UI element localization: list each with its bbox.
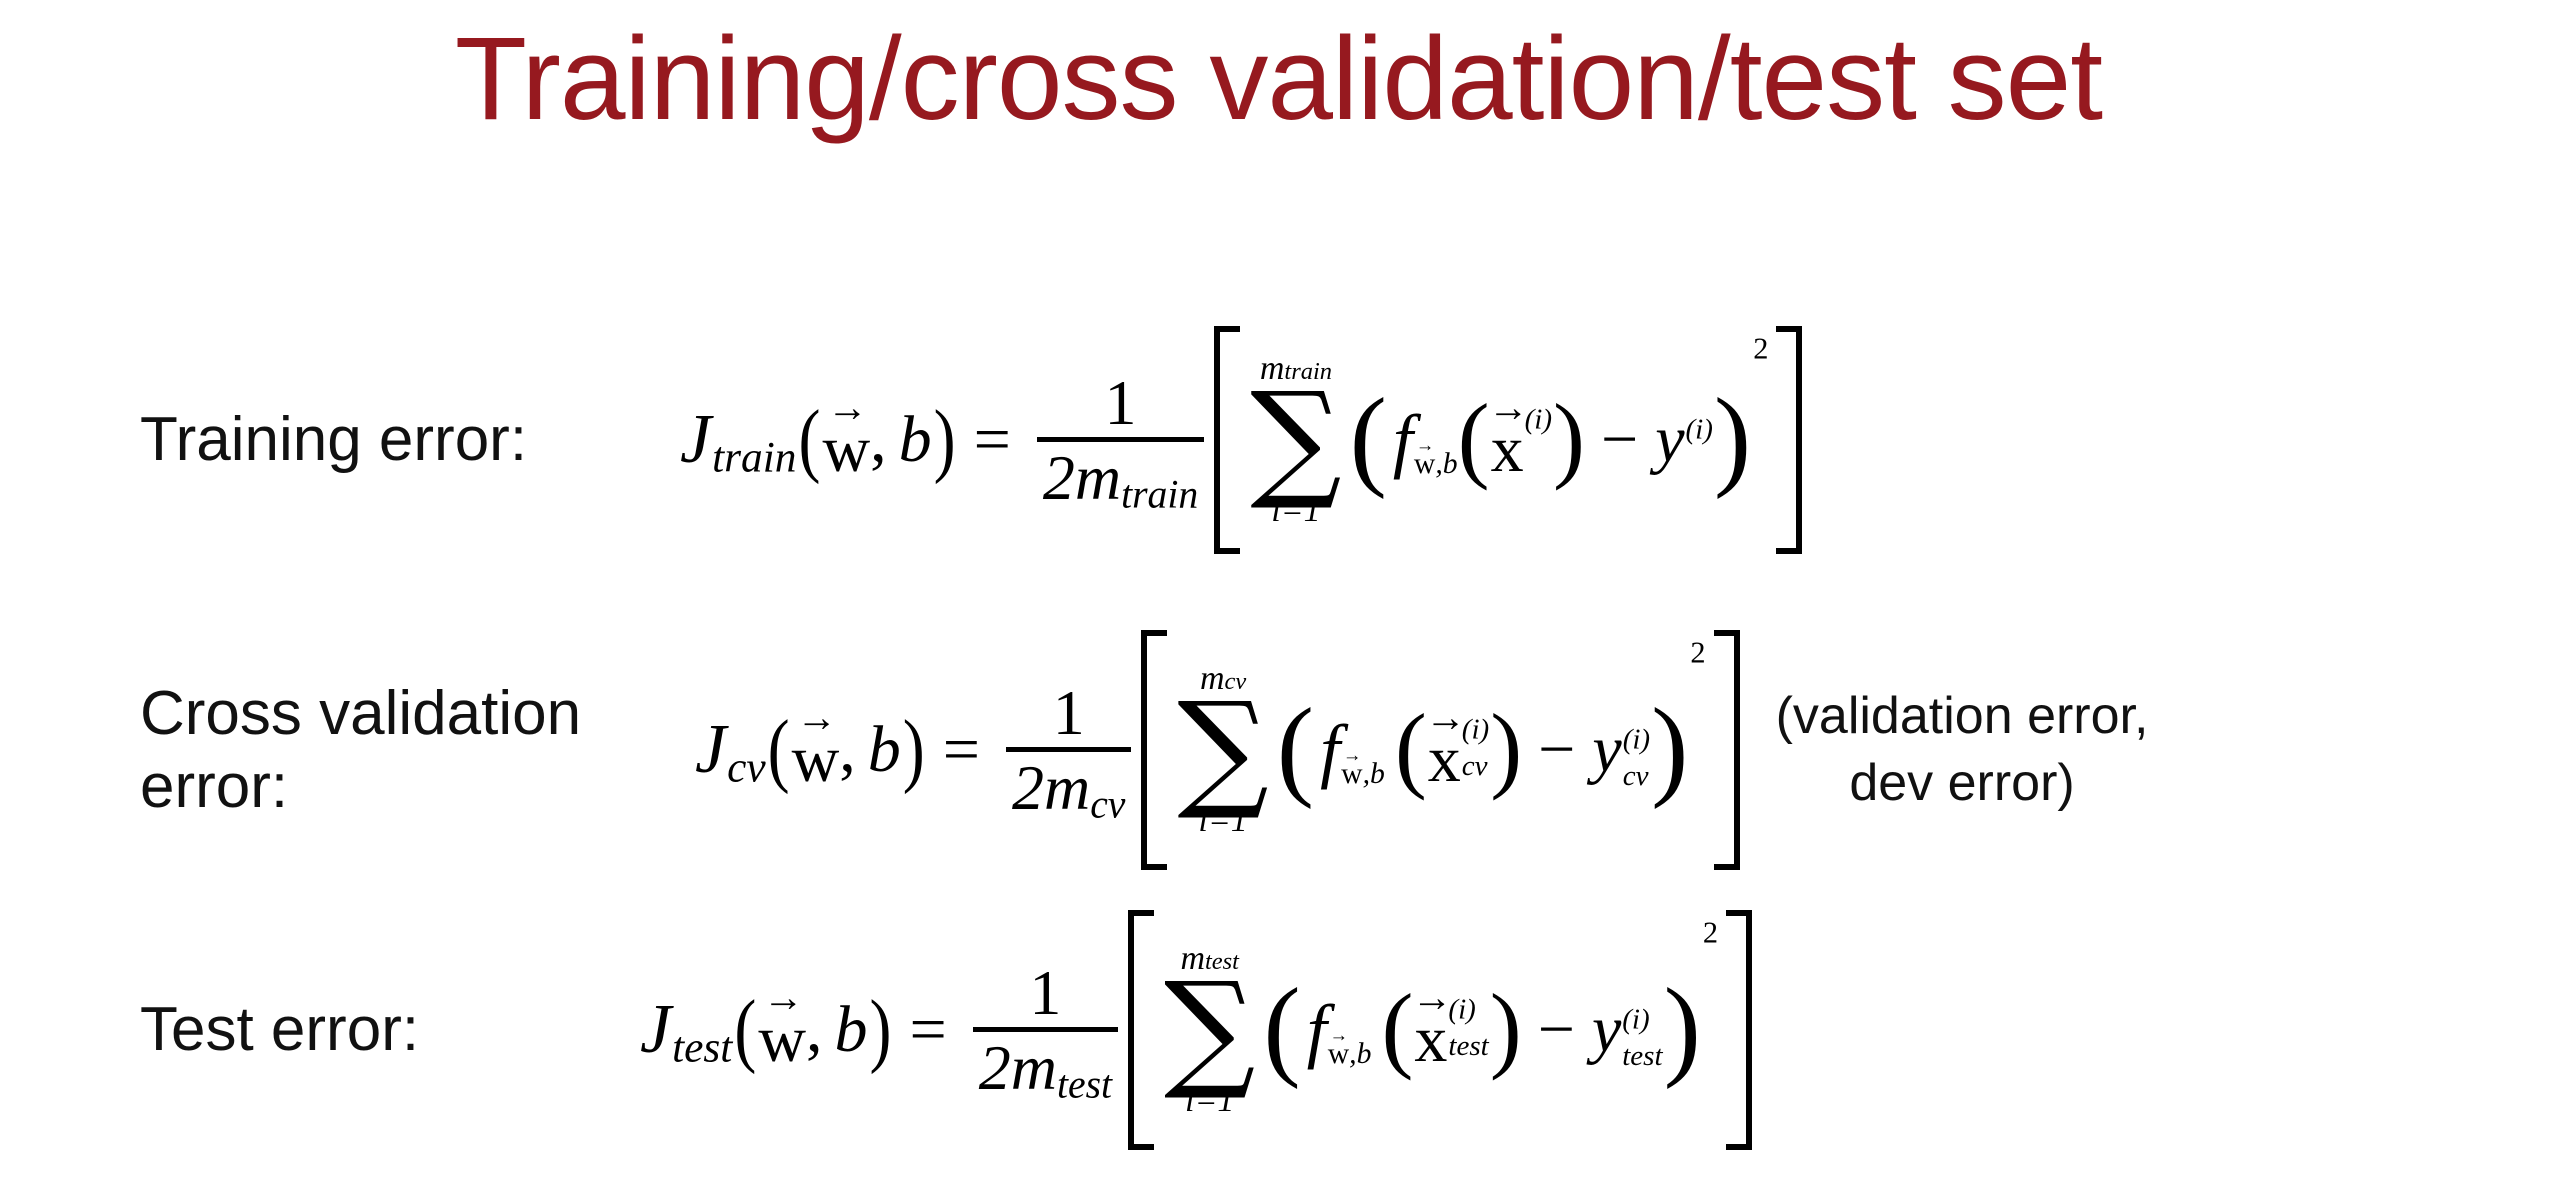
fraction-numerator: 1	[1019, 961, 1071, 1027]
close-paren: )	[870, 989, 892, 1072]
f-glyph: f	[1393, 404, 1413, 476]
x-scripts: (i) test	[1448, 987, 1488, 1045]
summand-expression: ( f → w ,b ( → x	[1277, 630, 1706, 870]
y-scripts: (i) test	[1622, 997, 1662, 1055]
f-subscript: → w ,b	[1341, 751, 1385, 790]
fraction-numerator: 1	[1095, 371, 1147, 437]
f-glyph: f	[1307, 994, 1327, 1066]
square-exponent: 2	[1753, 334, 1768, 364]
open-bracket-glyph	[1128, 910, 1154, 1150]
x-subscript: test	[1448, 1032, 1488, 1061]
test-error-formula: Jtest ( → w , b ) = 1 2mtest mtest ∑ i=1	[640, 910, 1752, 1150]
cross-validation-error-row: Cross validation error: Jcv ( → w , b ) …	[140, 630, 2148, 870]
sigma-icon: ∑	[1164, 978, 1255, 1083]
close-bracket-glyph	[1776, 326, 1802, 554]
training-error-formula: Jtrain ( → w , b ) = 1 2mtrain mtrain ∑	[680, 326, 1802, 554]
x-scripts: (i)	[1525, 397, 1552, 426]
j-subscript: cv	[727, 747, 766, 790]
close-paren: )	[903, 709, 925, 792]
x-subscript: cv	[1462, 752, 1488, 781]
summation-bracket: mtrain ∑ i=1 ( f → w ,b (	[1214, 326, 1802, 554]
summand-open-paren: (	[1350, 398, 1387, 479]
model-function-f: f → w ,b	[1393, 404, 1458, 476]
cross-validation-error-formula: Jcv ( → w , b ) = 1 2mcv mcv ∑ i=1	[695, 630, 1740, 870]
page-title: Training/cross validation/test set	[0, 18, 2557, 142]
b-arg: b	[835, 997, 868, 1063]
open-bracket-glyph	[1141, 630, 1167, 870]
close-paren: )	[934, 399, 956, 482]
cross-validation-alias-note: (validation error, dev error)	[1776, 683, 2149, 816]
summand-expression: ( f → w ,b ( → x	[1350, 326, 1769, 554]
model-function-f: f → w ,b	[1307, 994, 1372, 1066]
y-scripts: (i)	[1686, 407, 1713, 436]
f-arg-close-paren: )	[1490, 713, 1522, 782]
sum-lower-limit: i=1	[1271, 494, 1320, 528]
f-sub-rest: ,b	[1435, 450, 1457, 480]
f-subscript-w-vector: → w	[1414, 441, 1435, 480]
fraction-denominator: 2mtrain	[1037, 442, 1204, 510]
test-error-label: Test error:	[140, 993, 640, 1066]
summation-operator: mtest ∑ i=1	[1164, 910, 1255, 1150]
w-vector-arg: → w	[822, 397, 870, 483]
summand-close-paren: )	[1714, 398, 1751, 479]
open-paren: (	[768, 709, 790, 792]
y-glyph: y	[1592, 717, 1621, 783]
summation-operator: mtrain ∑ i=1	[1250, 326, 1341, 554]
arg-comma: ,	[839, 717, 856, 783]
minus-sign: −	[1538, 997, 1575, 1063]
fraction-denominator: 2mtest	[973, 1032, 1118, 1100]
x-vector: → x	[1491, 397, 1524, 483]
summand-open-paren: (	[1263, 988, 1300, 1069]
vector-arrow-icon: →	[796, 708, 834, 728]
f-subscript: → w ,b	[1328, 1031, 1372, 1070]
vector-arrow-icon: →	[1412, 988, 1450, 1008]
y-subscript: test	[1622, 1042, 1662, 1071]
w-vector-arg: → w	[792, 707, 840, 793]
denominator-subscript: test	[1057, 1065, 1112, 1105]
arg-comma: ,	[870, 407, 887, 473]
fraction-one-over-2m-cv: 1 2mcv	[1006, 681, 1131, 820]
y-glyph: y	[1592, 997, 1621, 1063]
model-function-f: f → w ,b	[1320, 714, 1385, 786]
close-bracket-glyph	[1726, 910, 1752, 1150]
vector-arrow-icon: →	[1425, 708, 1463, 728]
summation-operator: mcv ∑ i=1	[1177, 630, 1268, 870]
vector-arrow-icon: →	[1343, 751, 1360, 760]
sum-lower-limit: i=1	[1185, 1084, 1234, 1118]
f-arg-close-paren: )	[1490, 993, 1522, 1062]
vector-arrow-icon: →	[1488, 398, 1526, 418]
j-subscript: test	[672, 1027, 732, 1070]
b-arg: b	[899, 407, 932, 473]
minus-sign: −	[1538, 717, 1575, 783]
vector-arrow-icon: →	[1330, 1031, 1347, 1040]
x-superscript: (i)	[1525, 406, 1552, 435]
training-error-label: Training error:	[140, 403, 680, 476]
vector-arrow-icon: →	[1416, 441, 1433, 450]
sigma-icon: ∑	[1250, 388, 1341, 493]
x-input-variable: → x (i) cv	[1428, 707, 1489, 793]
x-input-variable: → x (i)	[1491, 397, 1552, 483]
y-target-variable: y (i) cv	[1592, 717, 1650, 783]
summand-expression: ( f → w ,b ( → x	[1263, 910, 1718, 1150]
f-arg-close-paren: )	[1553, 403, 1585, 472]
open-bracket-glyph	[1214, 326, 1240, 554]
b-arg: b	[868, 717, 901, 783]
denominator-prefix: 2m	[1043, 446, 1121, 510]
summand-close-paren: )	[1651, 708, 1688, 789]
equals-sign: =	[909, 997, 946, 1063]
denominator-subscript: train	[1121, 475, 1198, 515]
y-superscript: (i)	[1686, 416, 1713, 445]
equals-sign: =	[974, 407, 1011, 473]
square-exponent: 2	[1690, 638, 1705, 668]
function-name-j-cv: Jcv	[695, 715, 766, 785]
j-glyph: J	[680, 405, 711, 475]
f-glyph: f	[1320, 714, 1340, 786]
fraction-one-over-2m-train: 1 2mtrain	[1037, 371, 1204, 510]
summand-open-paren: (	[1277, 708, 1314, 789]
f-subscript-w-vector: → w	[1328, 1031, 1349, 1070]
vector-arrow-icon: →	[827, 398, 865, 418]
summand-close-paren: )	[1664, 988, 1701, 1069]
open-paren: (	[734, 989, 756, 1072]
close-bracket-glyph	[1714, 630, 1740, 870]
f-sub-rest: ,b	[1363, 760, 1385, 790]
x-input-variable: → x (i) test	[1414, 987, 1488, 1073]
vector-arrow-icon: →	[763, 988, 801, 1008]
fraction-denominator: 2mcv	[1006, 752, 1131, 820]
summation-bracket: mtest ∑ i=1 ( f → w ,b (	[1128, 910, 1752, 1150]
denominator-prefix: 2m	[979, 1036, 1057, 1100]
y-glyph: y	[1655, 407, 1684, 473]
sum-lower-limit: i=1	[1198, 804, 1247, 838]
y-subscript: cv	[1623, 762, 1649, 791]
fraction-one-over-2m-test: 1 2mtest	[973, 961, 1118, 1100]
y-scripts: (i) cv	[1623, 717, 1650, 775]
test-error-row: Test error: Jtest ( → w , b ) = 1 2mtest…	[140, 910, 1752, 1150]
x-superscript: (i)	[1462, 716, 1489, 745]
arg-comma: ,	[806, 997, 823, 1063]
square-exponent: 2	[1703, 918, 1718, 948]
cross-validation-error-label: Cross validation error:	[140, 677, 695, 823]
x-vector: → x	[1428, 707, 1461, 793]
f-subscript-w-vector: → w	[1341, 751, 1362, 790]
open-paren: (	[798, 399, 820, 482]
w-vector-arg: → w	[758, 987, 806, 1073]
f-arg-open-paren: (	[1458, 403, 1490, 472]
sigma-icon: ∑	[1177, 698, 1268, 803]
function-name-j-test: Jtest	[640, 995, 732, 1065]
j-glyph: J	[640, 995, 671, 1065]
f-arg-open-paren: (	[1381, 993, 1413, 1062]
minus-sign: −	[1601, 407, 1638, 473]
summation-bracket: mcv ∑ i=1 ( f → w ,b (	[1141, 630, 1739, 870]
denominator-prefix: 2m	[1012, 756, 1090, 820]
y-superscript: (i)	[1622, 1006, 1649, 1035]
x-superscript: (i)	[1448, 996, 1475, 1025]
f-subscript: → w ,b	[1414, 441, 1458, 480]
fraction-numerator: 1	[1043, 681, 1095, 747]
training-error-row: Training error: Jtrain ( → w , b ) = 1 2…	[140, 326, 1802, 554]
x-scripts: (i) cv	[1462, 707, 1489, 765]
equals-sign: =	[943, 717, 980, 783]
y-target-variable: y (i)	[1655, 407, 1713, 473]
function-name-j-train: Jtrain	[680, 405, 796, 475]
f-arg-open-paren: (	[1395, 713, 1427, 782]
f-sub-rest: ,b	[1349, 1040, 1371, 1070]
denominator-subscript: cv	[1090, 785, 1125, 825]
x-vector: → x	[1414, 987, 1447, 1073]
j-subscript: train	[712, 437, 796, 480]
y-superscript: (i)	[1623, 726, 1650, 755]
y-target-variable: y (i) test	[1592, 997, 1663, 1063]
j-glyph: J	[695, 715, 726, 785]
